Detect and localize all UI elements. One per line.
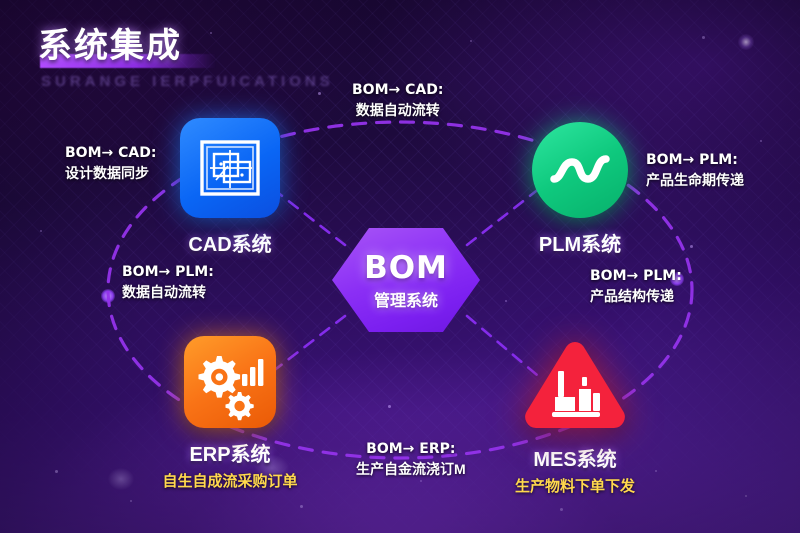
hexagon-label-group: BOM 管理系统 [332, 228, 480, 332]
node-plm[interactable]: PLM系统 [505, 122, 655, 260]
node-cad[interactable]: CAD系统 [155, 118, 305, 260]
flow-body: 生产自金流浇订M [356, 459, 466, 479]
bom-hub-subtitle: 管理系统 [374, 287, 438, 311]
flow-label-bom-cad-sync: BOM→ CAD: 设计数据同步 [65, 145, 156, 183]
wave-line-icon [532, 122, 628, 218]
flow-head: BOM→ ERP: [356, 441, 466, 457]
bom-hub-title: BOM [364, 250, 448, 286]
erp-subtitle: 自生自成流采购订单 [155, 470, 305, 491]
flow-label-bom-plm-auto: BOM→ PLM: 数据自动流转 [122, 264, 214, 302]
flow-head: BOM→ CAD: [65, 145, 156, 161]
flow-body: 数据自动流转 [122, 282, 214, 302]
mes-subtitle: 生产物料下单下发 [500, 475, 650, 496]
flow-body: 产品结构传递 [590, 286, 682, 306]
flow-label-bom-erp-order: BOM→ ERP: 生产自金流浇订M [356, 441, 466, 479]
blueprint-drawing-icon [180, 118, 280, 218]
flow-head: BOM→ CAD: [352, 82, 443, 98]
erp-title: ERP系统 [155, 438, 305, 467]
cad-icon-tile[interactable] [180, 118, 280, 218]
flow-body: 数据自动流转 [352, 100, 443, 120]
flow-body: 产品生命期传递 [646, 170, 744, 190]
flow-label-bom-plm-lifecycle: BOM→ PLM: 产品生命期传递 [646, 152, 744, 190]
mes-title: MES系统 [500, 443, 650, 472]
mes-icon-tile[interactable] [521, 337, 629, 433]
bom-hub-node[interactable]: BOM 管理系统 [332, 228, 480, 332]
cad-title: CAD系统 [155, 228, 305, 257]
flow-label-bom-cad-auto: BOM→ CAD: 数据自动流转 [352, 82, 443, 120]
flow-head: BOM→ PLM: [646, 152, 744, 168]
node-mes[interactable]: MES系统 生产物料下单下发 [500, 337, 650, 496]
plm-title: PLM系统 [505, 228, 655, 257]
flow-body: 设计数据同步 [65, 163, 156, 183]
flow-label-bom-plm-structure: BOM→ PLM: 产品结构传递 [590, 268, 682, 306]
node-erp[interactable]: ERP系统 自生自成流采购订单 [155, 336, 305, 491]
infographic-canvas: 系统集成 SURANGE IERPFUICATIONS [0, 0, 800, 533]
erp-icon-tile[interactable] [184, 336, 276, 428]
gears-bar-chart-icon [184, 336, 276, 428]
factory-icon [521, 337, 629, 433]
flow-head: BOM→ PLM: [122, 264, 214, 280]
flow-head: BOM→ PLM: [590, 268, 682, 284]
plm-icon-tile[interactable] [532, 122, 628, 218]
